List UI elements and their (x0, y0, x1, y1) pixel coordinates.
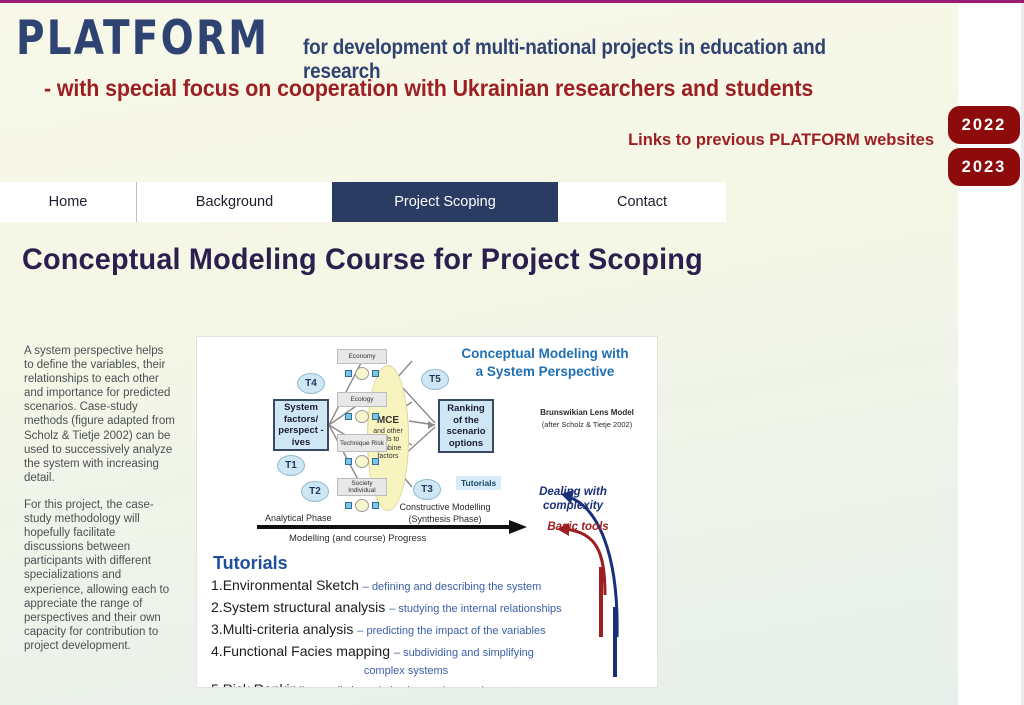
cue-square-left (345, 502, 352, 509)
annotation-basic-tools: Basic tools (541, 520, 615, 534)
cue-square-right (372, 458, 379, 465)
constructive-line2: (Synthesis Phase) (408, 514, 481, 524)
badge-t1: T1 (277, 455, 305, 476)
tutorial-item-1: 1.Environmental Sketch – defining and de… (211, 575, 631, 597)
site-header: PLATFORM for development of multi-nation… (0, 3, 958, 178)
annotation-dealing-with-complexity: Dealing with complexity (521, 485, 625, 513)
side-text-column: A system perspective helps to define the… (24, 344, 176, 666)
cue-square-left (345, 458, 352, 465)
label-constructive-phase: Constructive Modelling (Synthesis Phase) (377, 502, 513, 525)
tutorial-1-num: 1. (211, 577, 223, 593)
lens-glyph (355, 455, 369, 468)
constructive-line1: Constructive Modelling (399, 502, 490, 512)
tutorial-3-name: Multi-criteria analysis (223, 621, 354, 637)
tutorial-4-desc: – subdividing and simplifying (394, 647, 534, 659)
label-modelling-progress: Modelling (and course) Progress (289, 533, 426, 544)
tutorial-3-desc: – predicting the impact of the variables (357, 625, 545, 637)
brand-row: PLATFORM for development of multi-nation… (16, 15, 916, 84)
tutorial-5-num: 5. (211, 681, 223, 688)
node-technique-risk: Technique Risk (337, 434, 387, 452)
tutorial-item-2: 2.System structural analysis – studying … (211, 597, 631, 619)
brand-title: PLATFORM (16, 15, 269, 62)
node-society-individual: Society Individual (337, 478, 387, 496)
cue-square-left (345, 413, 352, 420)
conceptual-modeling-figure: Conceptual Modeling with a System Perspe… (196, 336, 658, 688)
node-ecology-icons (337, 408, 387, 424)
brand-subtitle: - with special focus on cooperation with… (44, 75, 813, 102)
tutorial-2-desc: – studying the internal relationships (389, 603, 561, 615)
tutorials-tag: Tutorials (456, 476, 501, 490)
previous-websites-note: Links to previous PLATFORM websites (594, 131, 934, 150)
main-navigation: Home Background Project Scoping Contact (0, 182, 726, 222)
nav-item-contact[interactable]: Contact (558, 182, 726, 222)
lens-glyph (355, 410, 369, 423)
node-ranking-options: Ranking of the scenario options (438, 399, 494, 453)
cue-square-right (372, 370, 379, 377)
badge-t5: T5 (421, 369, 449, 390)
tutorial-2-num: 2. (211, 599, 223, 615)
cue-square-left (345, 370, 352, 377)
tutorial-5-desc: – predicting relative impact in complex … (309, 685, 539, 688)
tutorial-1-desc: – defining and describing the system (363, 581, 542, 593)
tutorials-list: 1.Environmental Sketch – defining and de… (211, 575, 631, 688)
tutorial-item-5: 5.Risk Ranking – predicting relative imp… (211, 679, 631, 688)
side-paragraph-2: For this project, the case-study methodo… (24, 498, 176, 653)
tutorial-5-name: Risk Ranking (223, 681, 305, 688)
badge-t4: T4 (297, 373, 325, 394)
badge-t2: T2 (301, 481, 329, 502)
node-economy-icons (337, 365, 387, 381)
badge-t3: T3 (413, 479, 441, 500)
lens-glyph (355, 499, 369, 512)
lens-glyph (355, 367, 369, 380)
node-economy: Economy (337, 349, 387, 364)
node-technique-risk-icons (337, 453, 387, 469)
cue-square-right (372, 413, 379, 420)
page-title: Conceptual Modeling Course for Project S… (22, 243, 703, 277)
side-paragraph-1: A system perspective helps to define the… (24, 344, 176, 485)
page-root: PLATFORM for development of multi-nation… (0, 0, 1024, 705)
tutorial-item-3: 3.Multi-criteria analysis – predicting t… (211, 619, 631, 641)
tutorial-4-num: 4. (211, 643, 223, 659)
tutorial-4-name: Functional Facies mapping (223, 643, 390, 659)
year-badge-2022[interactable]: 2022 (948, 106, 1020, 144)
tutorial-item-4: 4.Functional Facies mapping – subdividin… (211, 641, 631, 679)
nav-item-project-scoping[interactable]: Project Scoping (332, 182, 558, 222)
tutorials-heading: Tutorials (213, 553, 288, 574)
node-ecology: Ecology (337, 392, 387, 407)
label-analytical-phase: Analytical Phase (265, 513, 332, 523)
nav-item-background[interactable]: Background (136, 182, 332, 222)
node-system-factors: System factors/ perspect -ives (273, 399, 329, 451)
tutorial-3-num: 3. (211, 621, 223, 637)
tutorial-4-desc-cont: complex systems (211, 663, 631, 679)
tutorial-1-name: Environmental Sketch (223, 577, 359, 593)
nav-item-home[interactable]: Home (0, 182, 136, 222)
year-badge-2023[interactable]: 2023 (948, 148, 1020, 186)
tutorial-2-name: System structural analysis (223, 599, 386, 615)
